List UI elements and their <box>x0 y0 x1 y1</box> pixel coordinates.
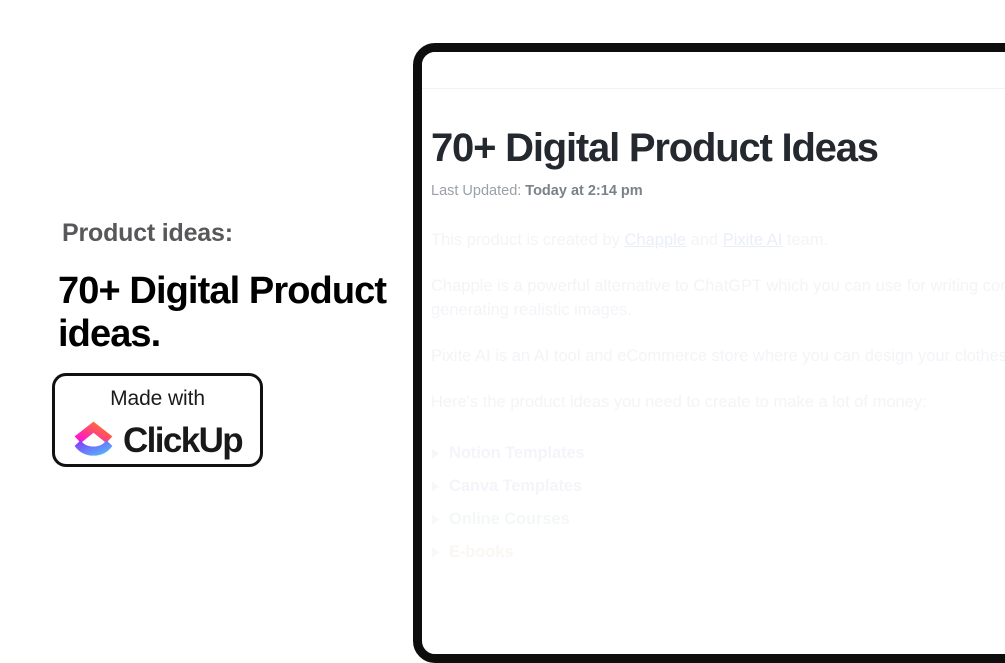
doc-body: 70+ Digital Product Ideas Last Updated:T… <box>422 89 1005 654</box>
clickup-logo-icon <box>73 420 114 461</box>
paragraph-pixite: Pixite AI is an AI tool and eCommerce st… <box>431 345 1005 369</box>
triangle-right-icon[interactable] <box>431 448 440 459</box>
triangle-right-icon[interactable] <box>431 514 440 525</box>
pixite-ai-link[interactable]: Pixite AI <box>723 231 783 249</box>
promo-headline: 70+ Digital Product ideas. <box>58 270 388 355</box>
list-item[interactable]: Notion Templates <box>431 437 1005 470</box>
badge-brand-name: ClickUp <box>123 423 242 458</box>
last-updated-value: Today at 2:14 pm <box>525 183 642 199</box>
credits-text-between: and <box>686 231 723 249</box>
credits-text-after: team. <box>782 231 828 249</box>
chapple-link[interactable]: Chapple <box>625 231 686 249</box>
badge-logo-row: ClickUp <box>55 420 260 461</box>
toggle-label-e-books: E-books <box>449 543 513 562</box>
badge-made-with-label: Made with <box>55 387 260 411</box>
list-item[interactable]: Online Courses <box>431 503 1005 536</box>
triangle-right-icon[interactable] <box>431 481 440 492</box>
toggle-label-canva-templates: Canva Templates <box>449 477 582 496</box>
toggle-label-notion-templates: Notion Templates <box>449 444 585 463</box>
made-with-clickup-badge[interactable]: Made with ClickUp <box>52 373 263 467</box>
promo-panel: Product ideas: 70+ Digital Product ideas… <box>0 0 412 601</box>
list-item[interactable]: E-books <box>431 536 1005 569</box>
doc-toolbar[interactable] <box>422 52 1005 89</box>
paragraph-chapple: Chapple is a powerful alternative to Cha… <box>431 275 1005 323</box>
list-item[interactable]: Canva Templates <box>431 470 1005 503</box>
credits-text-before: This product is created by <box>431 231 625 249</box>
paragraph-intro: Here's the product ideas you need to cre… <box>431 391 1005 415</box>
promo-eyebrow: Product ideas: <box>62 219 233 248</box>
triangle-right-icon[interactable] <box>431 547 440 558</box>
toggle-label-online-courses: Online Courses <box>449 510 570 529</box>
page-title: 70+ Digital Product Ideas <box>431 127 1005 169</box>
toggle-list: Notion Templates Canva Templates Online … <box>431 437 1005 569</box>
paragraph-credits: This product is created by Chapple and P… <box>431 229 1005 253</box>
last-updated-label: Last Updated: <box>431 183 521 199</box>
device-frame: 70+ Digital Product Ideas Last Updated:T… <box>413 43 1005 663</box>
last-updated-meta: Last Updated:Today at 2:14 pm <box>431 183 1005 199</box>
